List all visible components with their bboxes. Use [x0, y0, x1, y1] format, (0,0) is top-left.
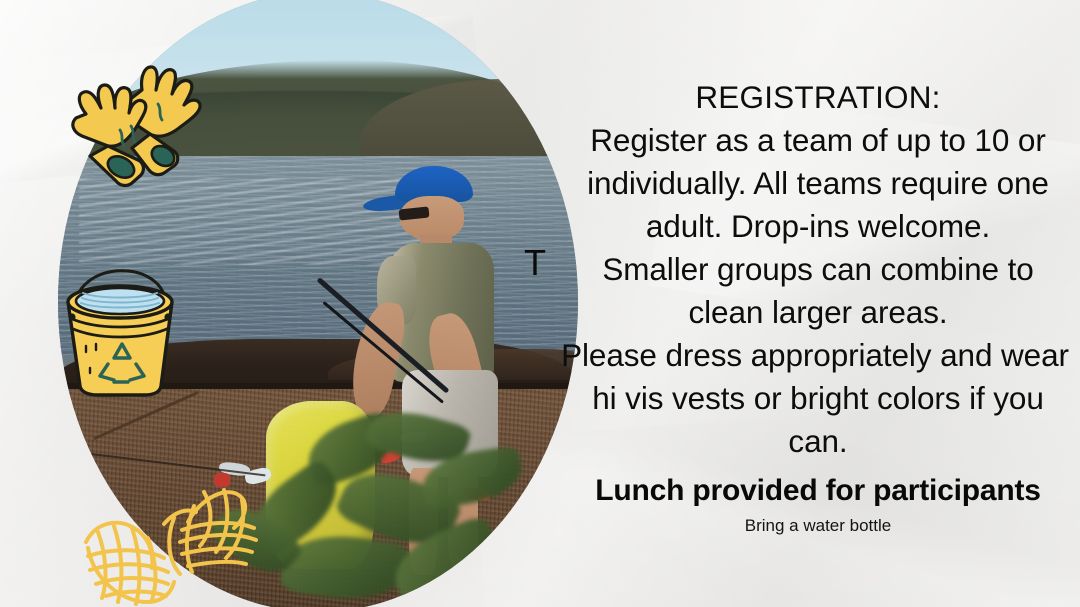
poster-canvas: T REGISTRATION: Register as a team of up…: [0, 0, 1080, 607]
photo-volunteer: [349, 166, 526, 575]
shorts: [402, 370, 497, 476]
registration-text-panel: REGISTRATION: Register as a team of up t…: [556, 0, 1080, 607]
rubber-gloves-doodle: [46, 52, 206, 197]
body-line-3: adult. Drop-ins welcome.: [646, 205, 990, 248]
recycling-bucket-doodle: [50, 240, 190, 400]
body-line-2: individually. All teams require one: [587, 162, 1049, 205]
left-leg: [409, 468, 437, 574]
body-line-1: Register as a team of up to 10 or: [590, 119, 1045, 162]
body-line-7: hi vis vests or bright colors if you: [592, 377, 1044, 420]
yellow-trash-bag: [266, 401, 375, 568]
fishing-net-doodle: [78, 470, 278, 607]
lunch-callout: Lunch provided for participants: [595, 471, 1041, 511]
registration-heading: REGISTRATION:: [695, 76, 940, 119]
water-bottle-note: Bring a water bottle: [745, 513, 891, 539]
body-line-6: Please dress appropriately and wear: [561, 334, 1069, 377]
right-leg: [448, 468, 478, 570]
body-line-8: can.: [788, 420, 847, 463]
body-line-4: Smaller groups can combine to: [602, 248, 1033, 291]
body-line-5: clean larger areas.: [689, 291, 948, 334]
stray-character: T: [524, 245, 546, 281]
